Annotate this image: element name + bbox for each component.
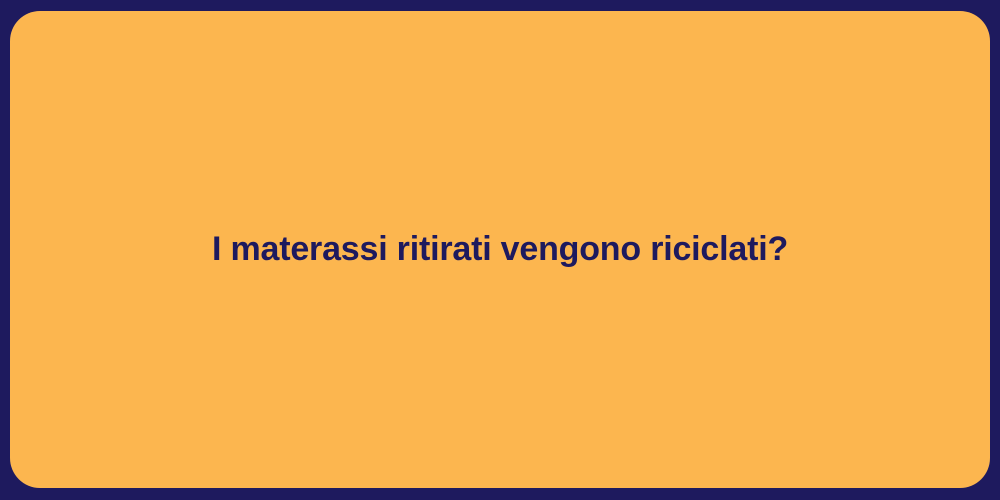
page-frame: I materassi ritirati vengono riciclati? bbox=[0, 0, 1000, 500]
question-card: I materassi ritirati vengono riciclati? bbox=[10, 11, 990, 488]
question-headline: I materassi ritirati vengono riciclati? bbox=[172, 228, 828, 271]
